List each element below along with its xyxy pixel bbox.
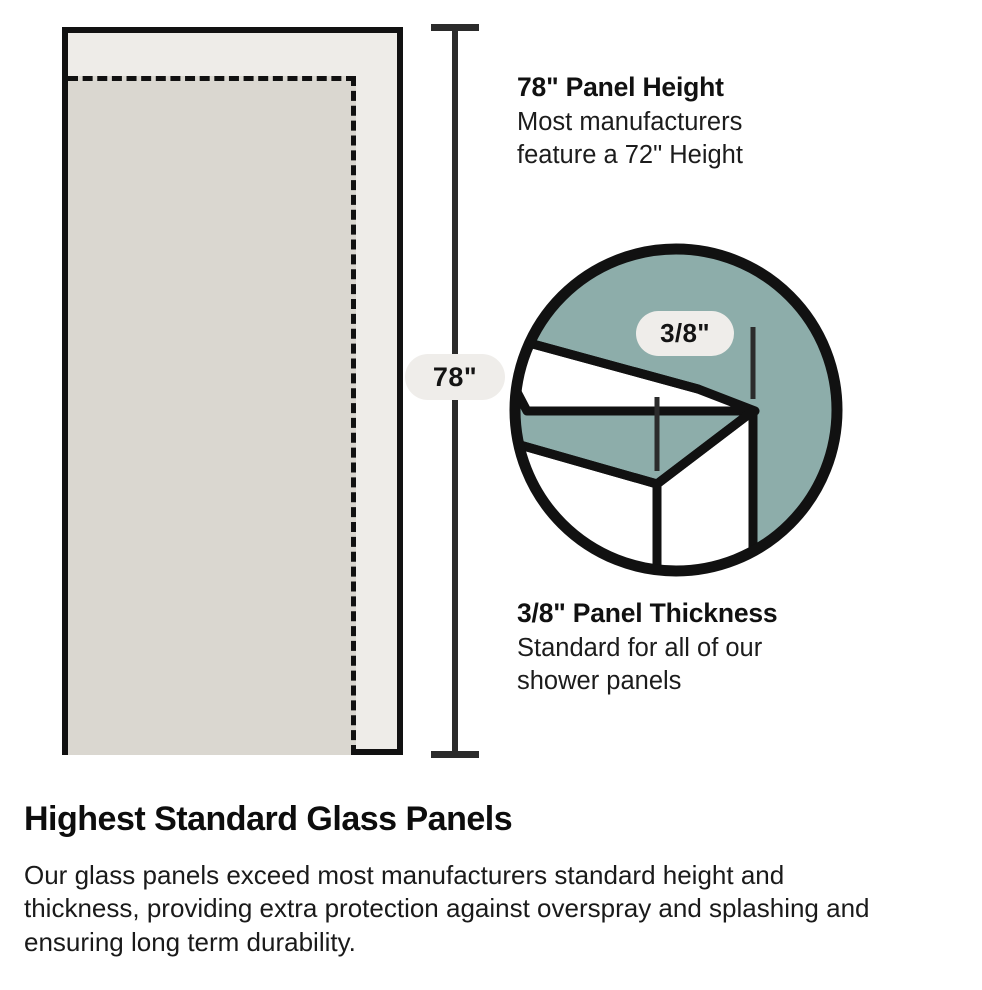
diagram-canvas: 78" 78" Panel Height Most manufacturers … (0, 0, 982, 990)
callout-panel-thickness-subtitle: Standard for all of our shower panels (517, 632, 867, 697)
callout-panel-thickness: 3/8" Panel Thickness Standard for all of… (517, 598, 867, 697)
dimension-cap-bottom (431, 751, 479, 758)
panel-thickness-detail-illustration: 3/8" (505, 239, 847, 581)
callout-panel-height-subtitle: Most manufacturers feature a 72" Height (517, 106, 857, 171)
glass-panel-inner-72in-dashed (68, 76, 356, 755)
callout-panel-height: 78" Panel Height Most manufacturers feat… (517, 72, 857, 171)
callout-panel-thickness-title: 3/8" Panel Thickness (517, 598, 867, 629)
callout-panel-height-title: 78" Panel Height (517, 72, 857, 103)
footer-body-text: Our glass panels exceed most manufacture… (24, 859, 884, 959)
footer-heading: Highest Standard Glass Panels (24, 800, 884, 839)
height-badge-78in: 78" (405, 354, 505, 400)
thickness-badge-3-8in: 3/8" (636, 311, 734, 356)
footer-copy-block: Highest Standard Glass Panels Our glass … (24, 800, 884, 959)
height-dimension-line: 78" (427, 24, 483, 758)
